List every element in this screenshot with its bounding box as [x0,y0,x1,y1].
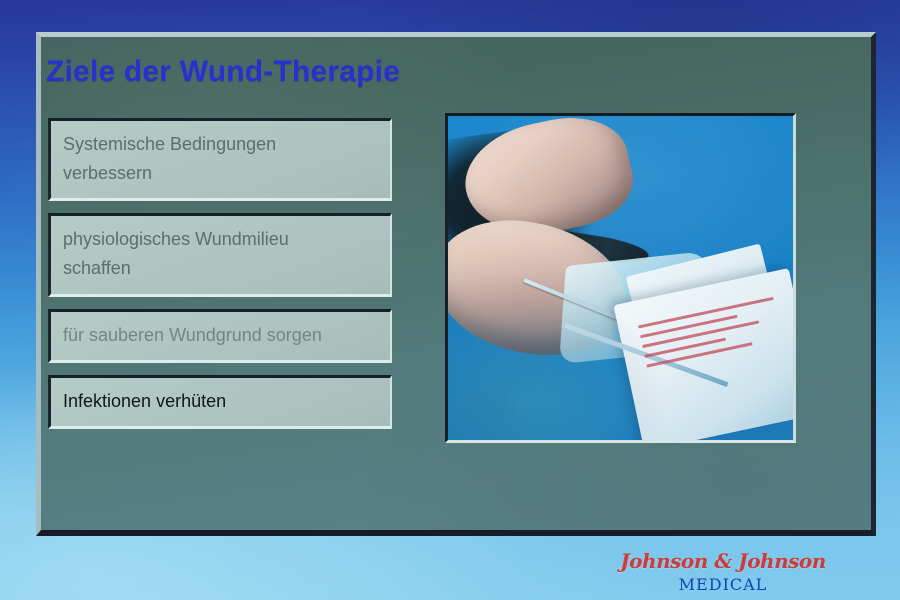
bullet-text-4: Infektionen verhüten [63,387,378,416]
bullet-list: Systemische Bedingungen verbessern physi… [48,118,392,441]
bullet-box-4: Infektionen verhüten [48,375,392,429]
photo-canvas [448,116,793,440]
bullet-text-2: physiologisches Wundmilieu schaffen [63,225,378,283]
logo-wordmark: Johnson & Johnson [608,549,838,573]
logo-subtext: MEDICAL [608,575,838,594]
bullet-text-3: für sauberen Wundgrund sorgen [63,321,378,350]
bullet-box-3: für sauberen Wundgrund sorgen [48,309,392,363]
surgical-photo [445,113,796,443]
bullet-box-1: Systemische Bedingungen verbessern [48,118,392,201]
brand-logo: Johnson & Johnson MEDICAL [608,549,838,594]
bullet-text-1: Systemische Bedingungen verbessern [63,130,378,188]
presentation-slide: Ziele der Wund-Therapie Systemische Bedi… [0,0,900,600]
slide-title: Ziele der Wund-Therapie [46,55,400,89]
bullet-box-2: physiologisches Wundmilieu schaffen [48,213,392,296]
